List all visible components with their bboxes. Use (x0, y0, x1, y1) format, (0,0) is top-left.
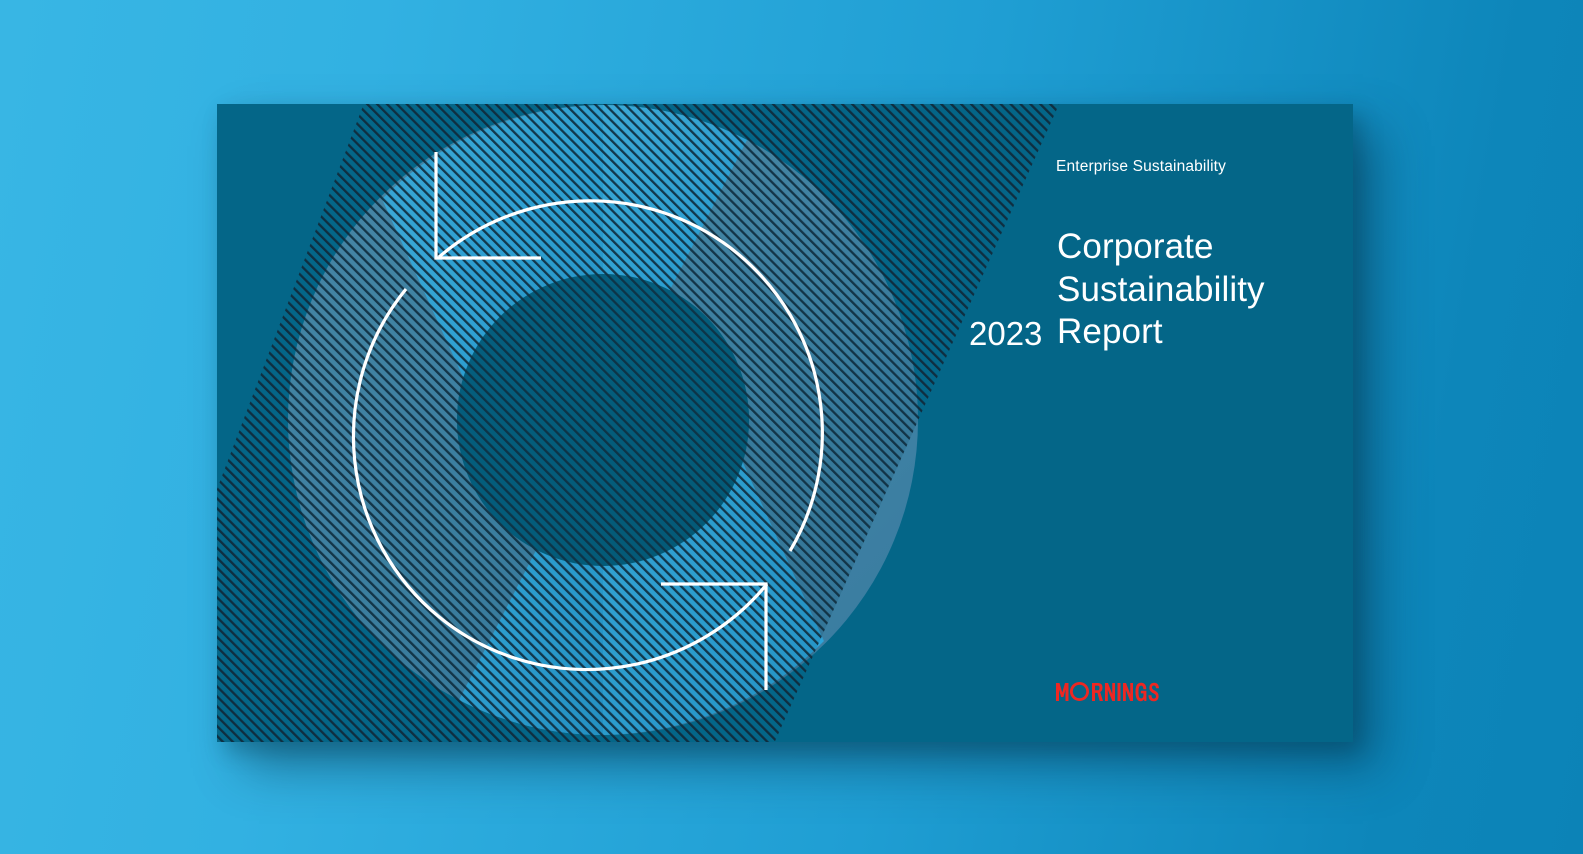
report-year: 2023 (969, 317, 1057, 354)
report-title: Corporate Sustainability Report (1057, 226, 1265, 354)
morningstar-logo-mark (1055, 676, 1159, 702)
eyebrow-label: Enterprise Sustainability (1056, 158, 1226, 176)
morningstar-logo: MORNINGSTAR (1055, 676, 1159, 702)
page-root: Enterprise Sustainability 2023 Corporate… (0, 0, 1583, 854)
cover-card: Enterprise Sustainability 2023 Corporate… (217, 104, 1353, 742)
title-row: 2023 Corporate Sustainability Report (969, 226, 1329, 354)
cover-artwork (217, 104, 1353, 742)
